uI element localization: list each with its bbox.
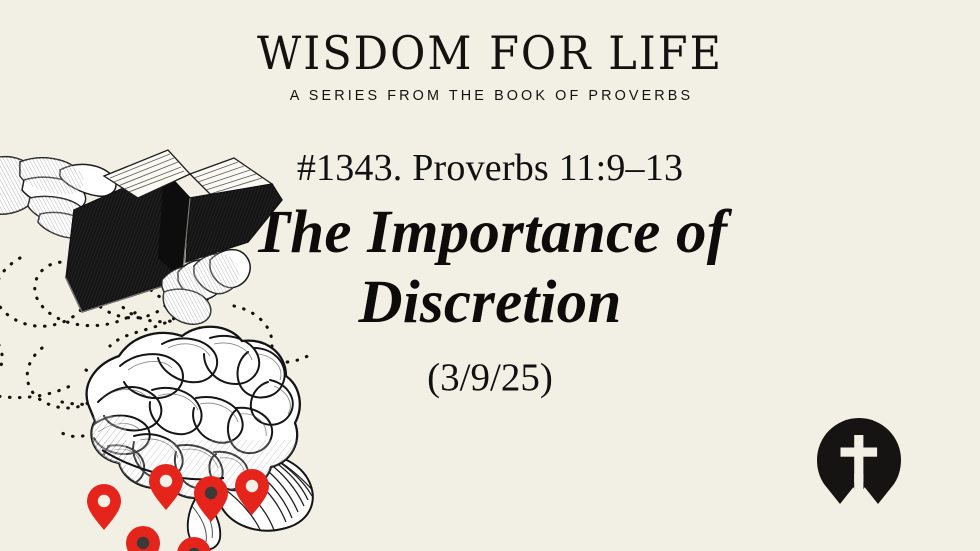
map-pin-group — [87, 464, 269, 551]
sermon-date: (3/9/25) — [0, 355, 980, 401]
scripture-reference: #1343. Proverbs 11:9–13 — [0, 146, 980, 190]
map-pin — [126, 526, 160, 551]
map-pin — [235, 469, 269, 515]
church-cross-logo — [816, 418, 902, 506]
map-pin — [194, 476, 228, 522]
cross-logo-icon — [816, 418, 902, 506]
sermon-title-line-2: Discretion — [0, 268, 980, 338]
sermon-title-line-1: The Importance of — [0, 198, 980, 268]
map-pin — [177, 537, 211, 551]
map-pin — [87, 484, 121, 530]
sermon-title-slide: WISDOM FOR LIFE A SERIES FROM THE BOOK O… — [0, 0, 980, 551]
sermon-title: The Importance of Discretion — [0, 198, 980, 338]
series-header: WISDOM FOR LIFE A SERIES FROM THE BOOK O… — [0, 30, 980, 105]
map-pin — [149, 464, 183, 510]
series-subtitle: A SERIES FROM THE BOOK OF PROVERBS — [0, 87, 980, 105]
series-title: WISDOM FOR LIFE — [0, 30, 980, 79]
